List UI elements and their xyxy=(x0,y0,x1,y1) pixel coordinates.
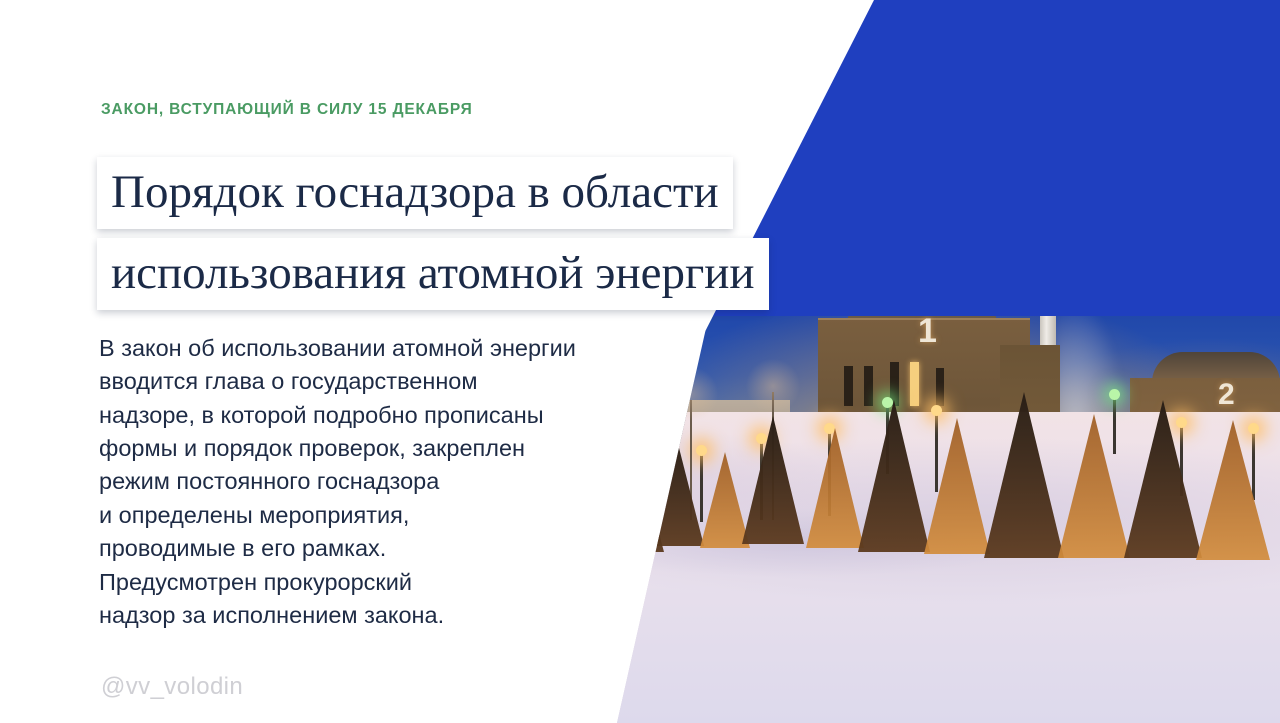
reactor-two-number: 2 xyxy=(1218,378,1237,412)
street-lamp-green xyxy=(1113,396,1116,454)
eyebrow-label: ЗАКОН, ВСТУПАЮЩИЙ В СИЛУ 15 ДЕКАБРЯ xyxy=(101,101,473,119)
poster-canvas: 1 2 xyxy=(0,0,1280,723)
headline-group: Порядок госнадзора в области использован… xyxy=(97,157,1077,319)
author-handle: @vv_volodin xyxy=(101,673,243,701)
street-lamp xyxy=(1252,430,1255,500)
headline-line-1: Порядок госнадзора в области xyxy=(97,157,733,229)
headline-line-2: использования атомной энергии xyxy=(97,238,769,310)
text-panel: ЗАКОН, ВСТУПАЮЩИЙ В СИЛУ 15 ДЕКАБРЯ Поря… xyxy=(0,0,700,723)
headline-row: использования атомной энергии xyxy=(97,238,1077,310)
body-paragraph: В закон об использовании атомной энергии… xyxy=(99,332,719,632)
street-lamp xyxy=(935,412,938,492)
headline-row: Порядок госнадзора в области xyxy=(97,157,1077,229)
